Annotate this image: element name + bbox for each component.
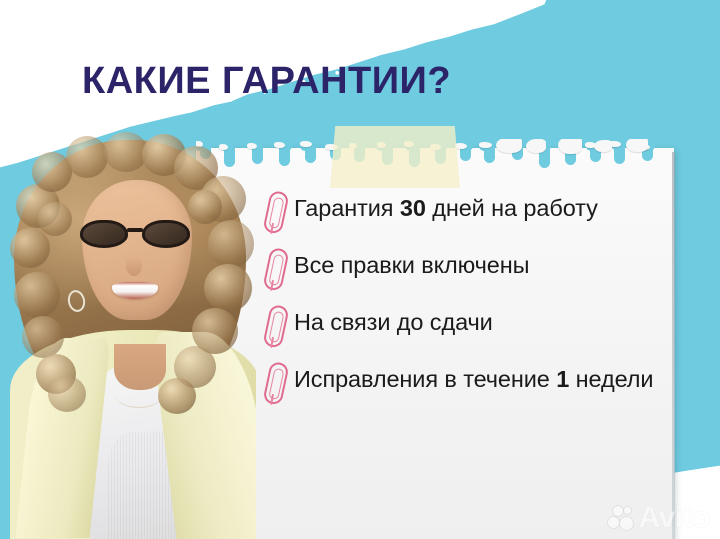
list-item: Исправления в течение 1 недели — [264, 363, 676, 443]
slide-canvas: КАКИЕ ГАРАНТИИ? Гарантия 30 дней на рабо… — [0, 0, 720, 539]
page-title: КАКИЕ ГАРАНТИИ? — [82, 62, 451, 100]
list-item-prefix: Исправления в течение — [294, 366, 556, 392]
list-item-highlight: 30 — [400, 195, 426, 221]
list-item-prefix: На связи до сдачи — [294, 309, 493, 335]
woman-photo — [8, 132, 256, 539]
nose — [126, 256, 142, 276]
list-item-suffix: недели — [569, 366, 653, 392]
masking-tape — [330, 126, 460, 188]
list-item-text: Все правки включены — [294, 251, 529, 280]
list-item: Гарантия 30 дней на работу — [264, 192, 676, 249]
avito-watermark: Avito — [608, 503, 710, 533]
sunglasses-lens-left — [80, 220, 128, 248]
list-item-prefix: Гарантия — [294, 195, 400, 221]
necklace — [114, 378, 164, 408]
list-item-prefix: Все правки включены — [294, 252, 529, 278]
list-item-highlight: 1 — [556, 366, 569, 392]
list-item-text: Гарантия 30 дней на работу — [294, 194, 598, 223]
list-item-text: Исправления в течение 1 недели — [294, 365, 653, 394]
sunglasses-icon — [80, 220, 196, 250]
list-item-suffix: дней на работу — [426, 195, 598, 221]
face — [82, 180, 192, 320]
sunglasses-bridge — [127, 228, 143, 232]
avito-dots-icon — [608, 505, 634, 531]
avito-brand-text: Avito — [639, 503, 710, 533]
list-item-text: На связи до сдачи — [294, 308, 493, 337]
sunglasses-lens-right — [142, 220, 190, 248]
guarantee-list: Гарантия 30 дней на работу Все правки вк… — [264, 192, 676, 443]
list-item: На связи до сдачи — [264, 306, 676, 363]
list-item: Все правки включены — [264, 249, 676, 306]
